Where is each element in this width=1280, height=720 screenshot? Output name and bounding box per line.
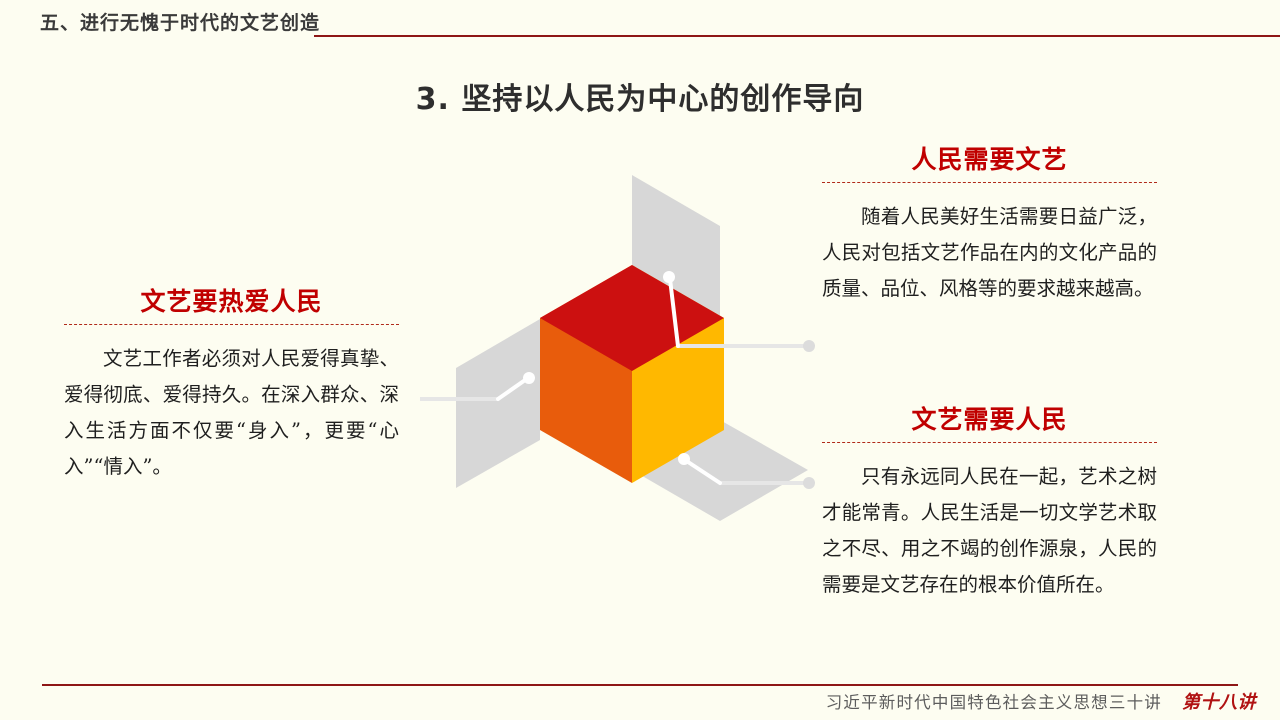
slide-header: 五、进行无愧于时代的文艺创造 bbox=[0, 8, 1280, 42]
panel-top-right-divider bbox=[822, 182, 1157, 183]
isometric-cube-diagram bbox=[420, 150, 840, 530]
panel-left: 文艺要热爱人民 文艺工作者必须对人民爱得真挚、爱得彻底、爱得持久。在深入群众、深… bbox=[64, 288, 399, 485]
connector-dot-bottom-right-outer bbox=[803, 477, 815, 489]
panel-bottom-right-body: 只有永远同人民在一起，艺术之树才能常青。人民生活是一切文学艺术取之不尽、用之不竭… bbox=[822, 459, 1157, 603]
panel-left-divider bbox=[64, 324, 399, 325]
page-title: 3. 坚持以人民为中心的创作导向 bbox=[0, 74, 1280, 118]
footer-divider-line bbox=[42, 684, 1238, 686]
panel-top-right: 人民需要文艺 随着人民美好生活需要日益广泛，人民对包括文艺作品在内的文化产品的质… bbox=[822, 146, 1157, 307]
connector-dot-top-right-inner bbox=[663, 271, 675, 283]
panel-bottom-right-heading: 文艺需要人民 bbox=[822, 406, 1157, 434]
panel-bottom-right-divider bbox=[822, 442, 1157, 443]
connector-dot-top-right-outer bbox=[803, 340, 815, 352]
connector-dot-bottom-right-inner bbox=[678, 453, 690, 465]
panel-left-heading: 文艺要热爱人民 bbox=[64, 288, 399, 316]
panel-left-body: 文艺工作者必须对人民爱得真挚、爱得彻底、爱得持久。在深入群众、深入生活方面不仅要… bbox=[64, 341, 399, 485]
cube-plane-left bbox=[456, 319, 540, 488]
footer-series-title: 习近平新时代中国特色社会主义思想三十讲 bbox=[826, 689, 1162, 713]
header-divider-line bbox=[314, 35, 1280, 37]
connector-dot-left-inner bbox=[523, 372, 535, 384]
panel-top-right-heading: 人民需要文艺 bbox=[822, 146, 1157, 174]
slide-canvas: 五、进行无愧于时代的文艺创造 3. 坚持以人民为中心的创作导向 bbox=[0, 0, 1280, 720]
panel-bottom-right: 文艺需要人民 只有永远同人民在一起，艺术之树才能常青。人民生活是一切文学艺术取之… bbox=[822, 406, 1157, 603]
footer-lecture-number: 第十八讲 bbox=[1182, 688, 1256, 714]
section-label: 五、进行无愧于时代的文艺创造 bbox=[40, 8, 320, 35]
panel-top-right-body: 随着人民美好生活需要日益广泛，人民对包括文艺作品在内的文化产品的质量、品位、风格… bbox=[822, 199, 1157, 307]
